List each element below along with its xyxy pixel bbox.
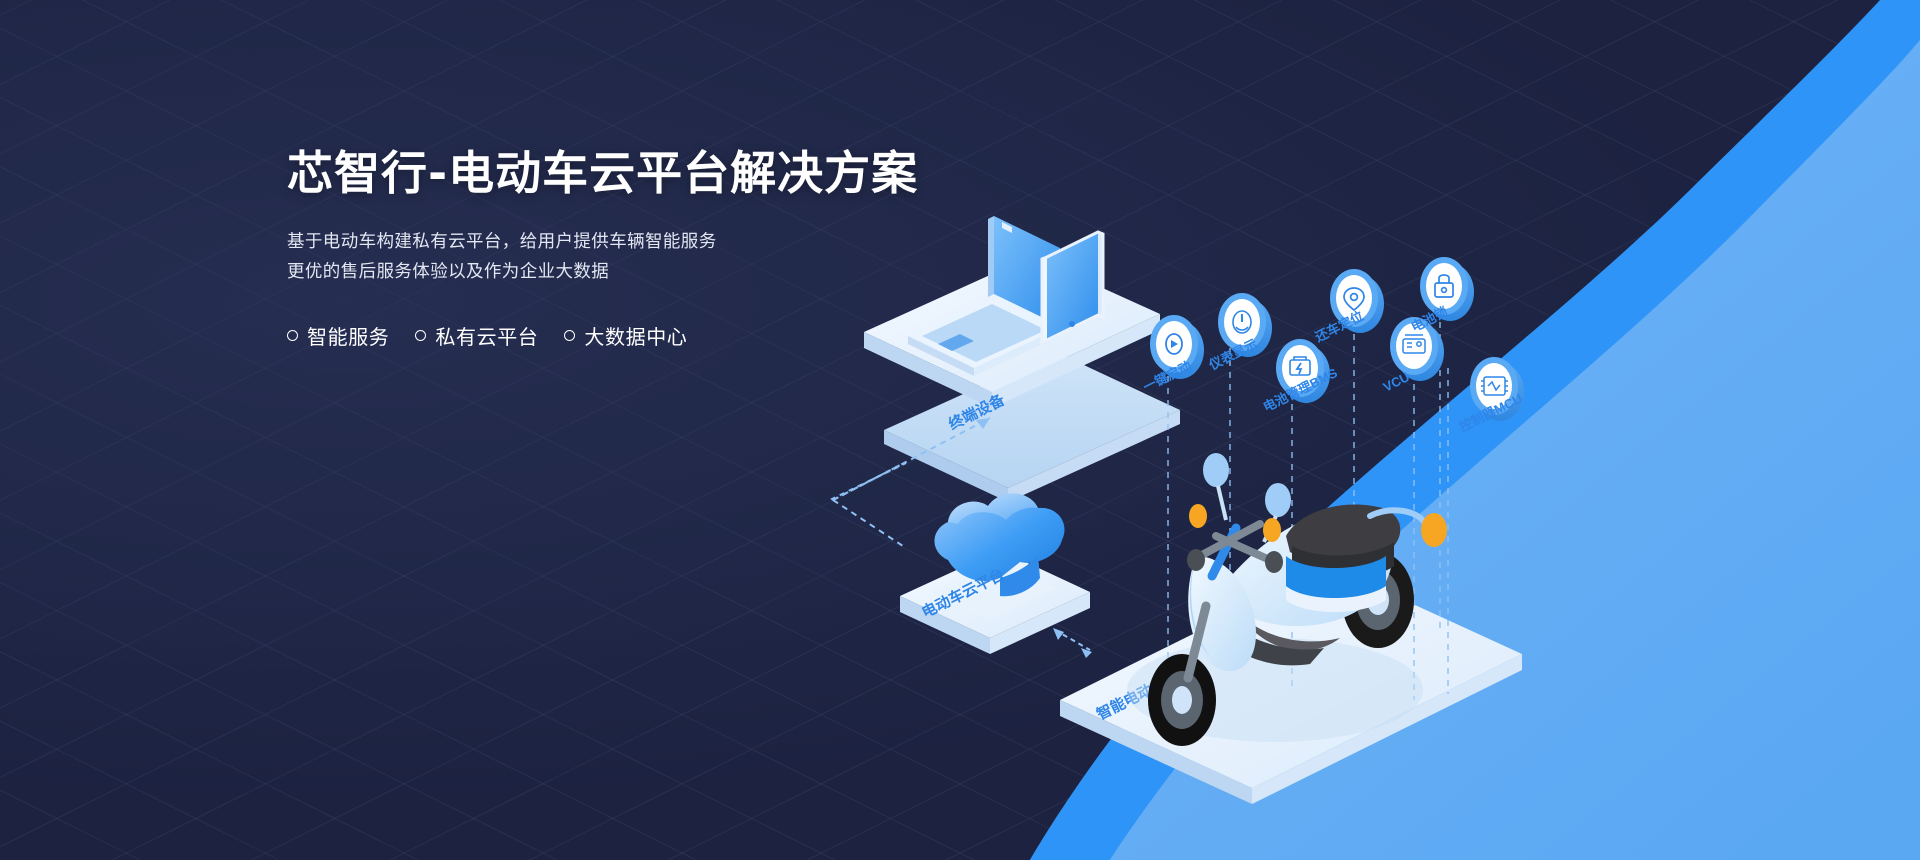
feature-node-dashboard[interactable]: 仪表显示 — [1206, 293, 1272, 373]
connector-cloud-to-scooter — [1053, 628, 1092, 658]
feature-node-battery-lock[interactable]: 电池锁 — [1409, 257, 1474, 335]
feature-node-bms[interactable]: 电池管理BMS — [1261, 339, 1340, 415]
feature-node-mcu[interactable]: 控制器MCU — [1457, 357, 1525, 435]
circle-outline-icon — [287, 330, 298, 341]
electric-scooter-illustration — [1127, 453, 1447, 746]
bullet-label-smart-service: 智能服务 — [307, 321, 389, 350]
platform-ev-cloud: 电动车云平台 — [900, 493, 1090, 654]
banner-text-block: 芯智行-电动车云平台解决方案 基于电动车构建私有云平台，给用户提供车辆智能服务 … — [287, 148, 987, 350]
circle-outline-icon — [415, 330, 426, 341]
bullet-item-private-cloud[interactable]: 私有云平台 — [415, 321, 538, 350]
bullet-label-big-data-center: 大数据中心 — [584, 321, 687, 350]
page-title: 芯智行-电动车云平台解决方案 — [287, 148, 987, 200]
banner-root: 终端设备 电动车云平台 — [0, 0, 1920, 860]
feature-bullet-list: 智能服务 私有云平台 大数据中心 — [287, 321, 987, 350]
connector-cloud-to-terminal-leg — [833, 500, 906, 548]
scooter-front-wheel — [1148, 654, 1216, 746]
bullet-item-big-data-center[interactable]: 大数据中心 — [564, 321, 687, 350]
subtitle-line-2: 更优的售后服务体验以及作为企业大数据 — [287, 256, 987, 286]
bullet-label-private-cloud: 私有云平台 — [435, 321, 538, 350]
bullet-item-smart-service[interactable]: 智能服务 — [287, 321, 389, 350]
isometric-illustration: 终端设备 电动车云平台 — [0, 0, 1920, 860]
feature-node-return-location[interactable]: 还车定位 — [1312, 269, 1384, 345]
banner-subtitle: 基于电动车构建私有云平台，给用户提供车辆智能服务 更优的售后服务体验以及作为企业… — [287, 226, 987, 286]
circle-outline-icon — [564, 330, 575, 341]
subtitle-line-1: 基于电动车构建私有云平台，给用户提供车辆智能服务 — [287, 226, 987, 256]
